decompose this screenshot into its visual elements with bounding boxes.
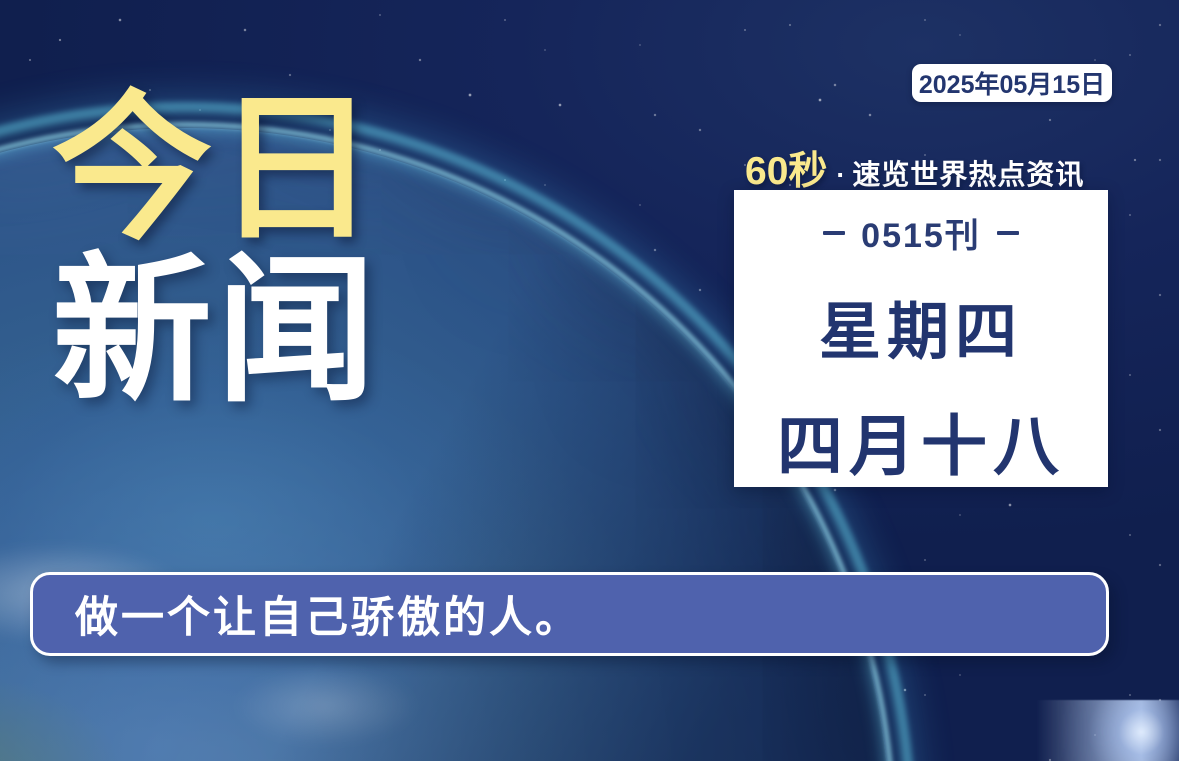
- tagline-separator: ·: [836, 160, 845, 191]
- issue-number: 0515刊: [861, 208, 981, 257]
- dash-left-icon: [823, 231, 845, 235]
- tagline-description: 速览世界热点资讯: [852, 153, 1084, 193]
- date-badge: 2025年05月15日: [912, 64, 1112, 102]
- issue-row: 0515刊: [823, 208, 1019, 257]
- weekday-label: 星期四: [819, 281, 1023, 371]
- title-line-today: 今日: [52, 92, 380, 246]
- quote-text: 做一个让自己骄傲的人。: [75, 583, 581, 645]
- lens-flare-icon: [1019, 700, 1179, 761]
- date-info-card: 0515刊 星期四 四月十八: [734, 190, 1108, 487]
- date-badge-label: 2025年05月15日: [919, 65, 1105, 101]
- lunar-date-label: 四月十八: [777, 393, 1065, 489]
- quote-bar: 做一个让自己骄傲的人。: [30, 572, 1109, 656]
- tagline-seconds: 60秒: [745, 140, 827, 196]
- tagline: 60秒 · 速览世界热点资讯: [745, 140, 1084, 196]
- news-poster: 今日 新闻 2025年05月15日 60秒 · 速览世界热点资讯 0515刊 星…: [0, 0, 1179, 761]
- page-title: 今日 新闻: [52, 92, 380, 407]
- title-line-news: 新闻: [52, 254, 380, 408]
- dash-right-icon: [997, 231, 1019, 235]
